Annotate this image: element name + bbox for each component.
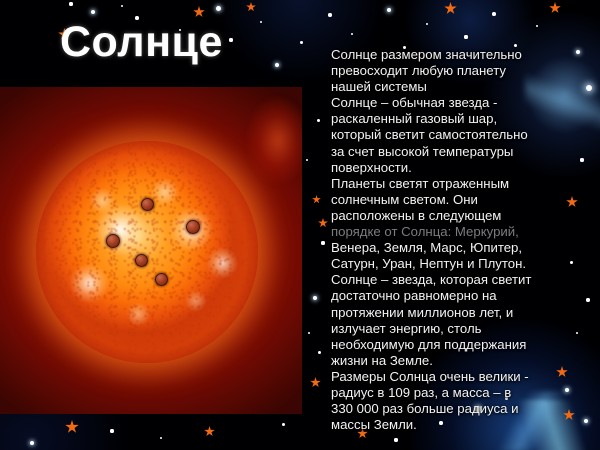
body-text-line: Размеры Солнца очень велики - <box>331 369 597 385</box>
slide-body-text: Солнце размером значительнопревосходит л… <box>331 47 597 433</box>
sun-photograph <box>0 87 302 414</box>
sun-disc <box>36 141 258 363</box>
page-title: Солнце <box>60 18 223 67</box>
body-text-line: 330 000 раз больше радиуса и <box>331 401 597 417</box>
presentation-slide: Солнце Солнце размером значительнопревос… <box>0 0 600 450</box>
body-text-line: за счет высокой температуры <box>331 144 597 160</box>
body-text-line: превосходит любую планету <box>331 63 597 79</box>
planet-comparison-dot <box>155 273 168 286</box>
planet-comparison-dot <box>106 234 120 248</box>
body-text-line: который светит самостоятельно <box>331 127 597 143</box>
body-text-line: излучает энергию, столь <box>331 321 597 337</box>
body-text-line: раскаленный газовый шар, <box>331 111 597 127</box>
body-text-line: порядке от Солнца: Меркурий, <box>331 224 597 240</box>
body-text-line: нашей системы <box>331 79 597 95</box>
body-text-line: радиус в 109 раз, а масса – в <box>331 385 597 401</box>
body-text-line: солнечным светом. Они <box>331 192 597 208</box>
body-text-line: достаточно равномерно на <box>331 288 597 304</box>
planet-comparison-dot <box>186 220 200 234</box>
planet-comparison-dot <box>135 254 148 267</box>
planet-comparison-dot <box>141 198 154 211</box>
body-text-line: Планеты светят отраженным <box>331 176 597 192</box>
body-text-line: Сатурн, Уран, Нептун и Плутон. <box>331 256 597 272</box>
body-text-line: жизни на Земле. <box>331 353 597 369</box>
body-text-line: Солнце – звезда, которая светит <box>331 272 597 288</box>
body-text-line: необходимую для поддержания <box>331 337 597 353</box>
body-text-line: поверхности. <box>331 160 597 176</box>
body-text-line: Солнце размером значительно <box>331 47 597 63</box>
body-text-line: расположены в следующем <box>331 208 597 224</box>
body-text-line: протяжении миллионов лет, и <box>331 305 597 321</box>
body-text-line: массы Земли. <box>331 417 597 433</box>
sun-limb-darkening <box>36 141 258 363</box>
body-text-line: Солнце – обычная звезда - <box>331 95 597 111</box>
body-text-line: Венера, Земля, Марс, Юпитер, <box>331 240 597 256</box>
